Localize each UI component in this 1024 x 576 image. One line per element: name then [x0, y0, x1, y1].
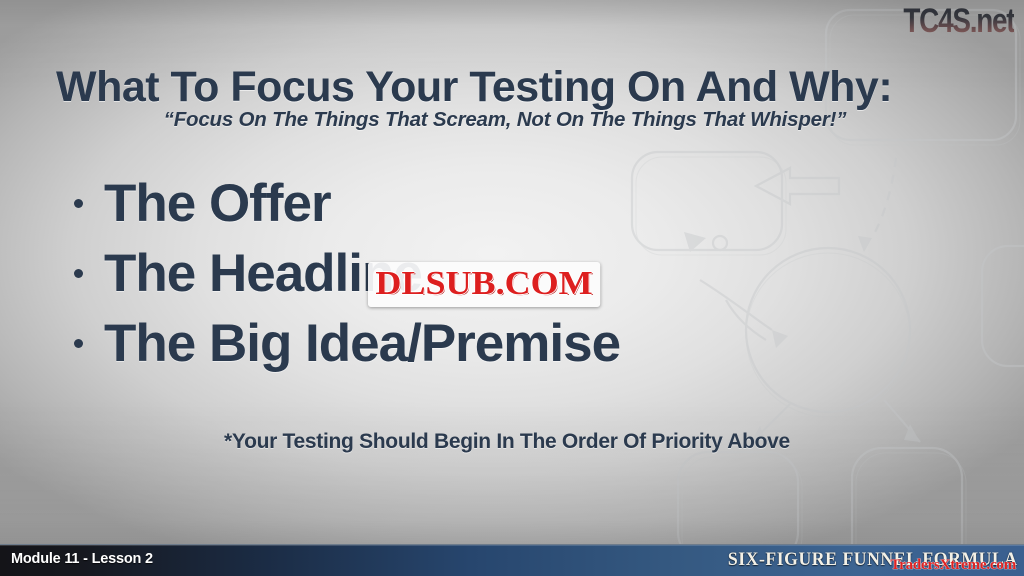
slide-footer-bar: Module 11 - Lesson 2 SIX-FIGURE FUNNEL F…: [0, 544, 1024, 576]
bullet-dot-icon: [74, 269, 83, 278]
page-title: What To Focus Your Testing On And Why:: [56, 63, 976, 112]
bullet-dot-icon: [74, 199, 83, 208]
list-item-label: The Offer: [104, 173, 331, 234]
list-item-label: The Headline: [104, 243, 422, 304]
module-lesson-label: Module 11 - Lesson 2: [11, 551, 153, 567]
bullet-dot-icon: [74, 339, 83, 348]
focus-bullet-list: The Offer The Headline The Big Idea/Prem…: [74, 168, 620, 378]
watermark-tc4s: TC4S.net: [903, 2, 1014, 41]
slide-subtitle-quote: “Focus On The Things That Scream, Not On…: [0, 108, 1024, 132]
list-item-label: The Big Idea/Premise: [104, 313, 620, 374]
list-item: The Headline: [74, 238, 620, 308]
presentation-slide: What To Focus Your Testing On And Why: “…: [0, 0, 1024, 576]
list-item: The Big Idea/Premise: [74, 308, 620, 378]
list-item: The Offer: [74, 168, 620, 238]
course-brand-label: SIX-FIGURE FUNNEL FORMULA: [728, 549, 1018, 571]
slide-footnote: *Your Testing Should Begin In The Order …: [0, 430, 1024, 454]
